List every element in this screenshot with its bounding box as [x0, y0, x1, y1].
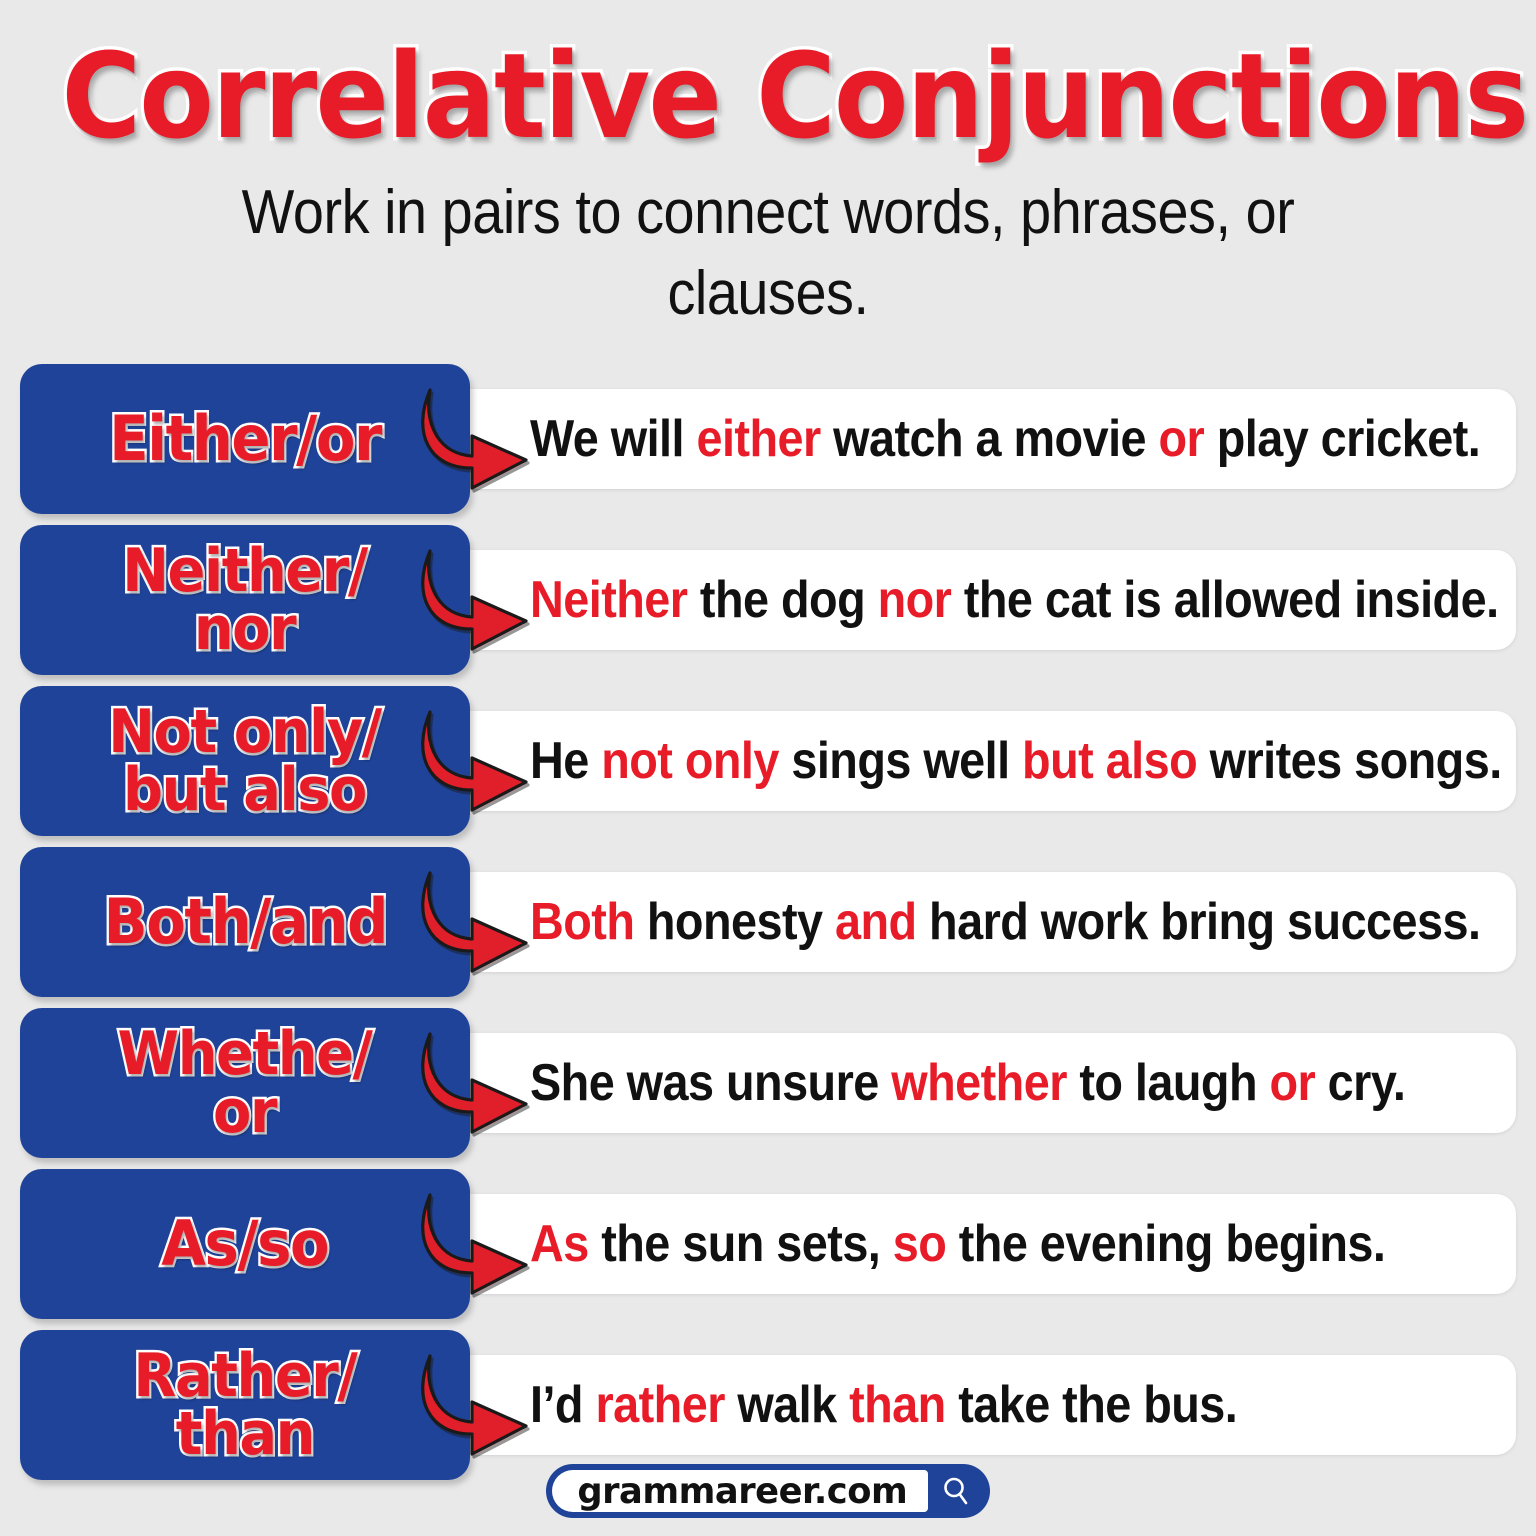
conjunction-label-text: As/so: [162, 1214, 329, 1274]
conjunction-label-card[interactable]: As/so: [20, 1169, 470, 1319]
conjunction-row: Rather/thanI’d rather walk than take the…: [0, 1330, 1536, 1480]
conjunction-label-card[interactable]: Whethe/or: [20, 1008, 470, 1158]
example-card: She was unsure whether to laugh or cry.: [444, 1033, 1516, 1133]
example-text-fragment: the dog: [687, 571, 877, 629]
example-card: Both honesty and hard work bring success…: [444, 872, 1516, 972]
example-text-fragment: writes songs.: [1197, 732, 1502, 790]
example-card: Neither the dog nor the cat is allowed i…: [444, 550, 1516, 650]
conjunction-label-text: Neither/nor: [123, 542, 368, 658]
search-icon[interactable]: [928, 1474, 984, 1508]
example-card: We will either watch a movie or play cri…: [444, 389, 1516, 489]
conjunction-row: Not only/but alsoHe not only sings well …: [0, 686, 1536, 836]
conjunction-label-card[interactable]: Rather/than: [20, 1330, 470, 1480]
page-title: Correlative Conjunctions: [61, 34, 1474, 159]
example-keyword: but also: [1022, 732, 1197, 790]
example-keyword: either: [696, 410, 820, 468]
example-text-fragment: He: [530, 732, 601, 790]
conjunction-row: Both/andBoth honesty and hard work bring…: [0, 847, 1536, 997]
site-url: grammareer.com: [577, 1471, 907, 1512]
example-text-fragment: cry.: [1315, 1054, 1405, 1112]
example-text-fragment: She was unsure: [530, 1054, 891, 1112]
example-text-fragment: the sun sets,: [589, 1215, 893, 1273]
example-keyword: Neither: [530, 571, 687, 629]
conjunction-label-text-line2: nor: [194, 594, 295, 664]
example-card: He not only sings well but also writes s…: [444, 711, 1516, 811]
example-keyword: not only: [601, 732, 779, 790]
example-text-fragment: walk: [725, 1376, 849, 1434]
conjunction-label-text: Both/and: [103, 892, 386, 952]
conjunction-label-text: Rather/than: [133, 1347, 356, 1463]
example-keyword: As: [530, 1215, 589, 1273]
example-text-fragment: sings well: [779, 732, 1022, 790]
conjunction-rows: Either/orWe will either watch a movie or…: [0, 364, 1536, 1480]
badge-url-field: grammareer.com: [552, 1470, 929, 1512]
example-text-fragment: I’d: [530, 1376, 595, 1434]
example-keyword: or: [1269, 1054, 1315, 1112]
conjunction-label-card[interactable]: Either/or: [20, 364, 470, 514]
example-text-fragment: watch a movie: [821, 410, 1159, 468]
example-sentence: I’d rather walk than take the bus.: [530, 1375, 1237, 1435]
example-keyword: and: [835, 893, 917, 951]
example-sentence: Both honesty and hard work bring success…: [530, 892, 1480, 952]
conjunction-row: Whethe/orShe was unsure whether to laugh…: [0, 1008, 1536, 1158]
conjunction-label-card[interactable]: Neither/nor: [20, 525, 470, 675]
page-subtitle: Work in pairs to connect words, phrases,…: [237, 173, 1299, 334]
example-card: I’d rather walk than take the bus.: [444, 1355, 1516, 1455]
conjunction-label-card[interactable]: Not only/but also: [20, 686, 470, 836]
example-card: As the sun sets, so the evening begins.: [444, 1194, 1516, 1294]
example-text-fragment: honesty: [634, 893, 835, 951]
example-text-fragment: the cat is allowed inside.: [951, 571, 1498, 629]
example-keyword: rather: [595, 1376, 724, 1434]
conjunction-label-text-line2: or: [213, 1077, 276, 1147]
example-keyword: whether: [891, 1054, 1067, 1112]
example-keyword: nor: [878, 571, 952, 629]
example-sentence: Neither the dog nor the cat is allowed i…: [530, 570, 1499, 630]
conjunction-label-text: Whethe/or: [118, 1025, 372, 1141]
example-text-fragment: the evening begins.: [946, 1215, 1385, 1273]
conjunction-row: As/soAs the sun sets, so the evening beg…: [0, 1169, 1536, 1319]
conjunction-row: Either/orWe will either watch a movie or…: [0, 364, 1536, 514]
example-keyword: than: [849, 1376, 946, 1434]
example-keyword: Both: [530, 893, 634, 951]
example-keyword: so: [893, 1215, 947, 1273]
example-keyword: or: [1159, 410, 1205, 468]
site-badge[interactable]: grammareer.com: [546, 1464, 991, 1518]
example-text-fragment: We will: [530, 410, 696, 468]
example-sentence: We will either watch a movie or play cri…: [530, 409, 1480, 469]
conjunction-row: Neither/norNeither the dog nor the cat i…: [0, 525, 1536, 675]
example-text-fragment: hard work bring success.: [917, 893, 1481, 951]
conjunction-label-text: Not only/but also: [109, 703, 382, 819]
example-sentence: She was unsure whether to laugh or cry.: [530, 1053, 1405, 1113]
conjunction-label-text: Either/or: [109, 409, 381, 469]
example-text-fragment: to laugh: [1067, 1054, 1270, 1112]
example-text-fragment: take the bus.: [946, 1376, 1238, 1434]
conjunction-label-text-line2: than: [176, 1399, 314, 1469]
example-sentence: As the sun sets, so the evening begins.: [530, 1214, 1385, 1274]
conjunction-label-card[interactable]: Both/and: [20, 847, 470, 997]
header: Correlative Conjunctions Work in pairs t…: [0, 0, 1536, 334]
example-sentence: He not only sings well but also writes s…: [530, 731, 1502, 791]
conjunction-label-text-line2: but also: [124, 755, 367, 825]
example-text-fragment: play cricket.: [1204, 410, 1480, 468]
